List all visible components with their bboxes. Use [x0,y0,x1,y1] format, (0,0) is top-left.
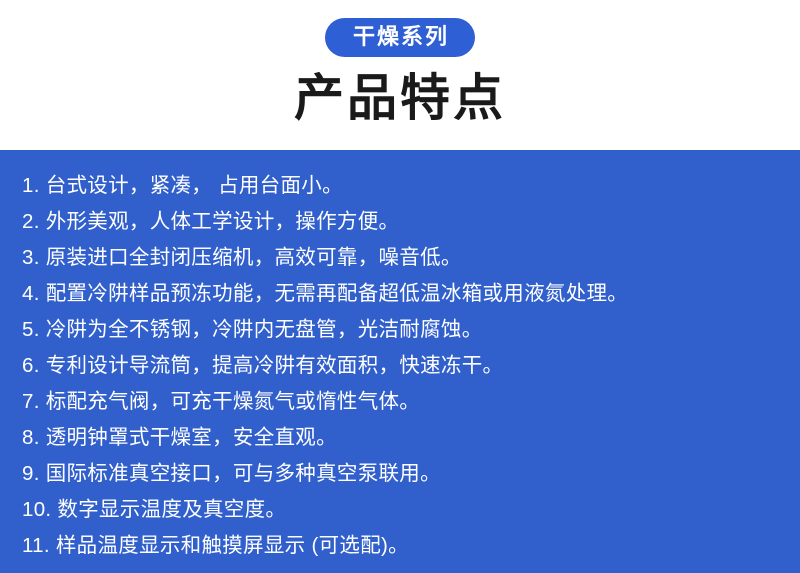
list-item: 11. 样品温度显示和触摸屏显示 (可选配)。 [18,536,782,557]
list-item: 8. 透明钟罩式干燥室，安全直观。 [18,428,782,449]
list-item: 3. 原装进口全封闭压缩机，高效可靠，噪音低。 [18,248,782,269]
list-item: 9. 国际标准真空接口，可与多种真空泵联用。 [18,464,782,485]
list-item: 7. 标配充气阀，可充干燥氮气或惰性气体。 [18,392,782,413]
list-item: 4. 配置冷阱样品预冻功能，无需再配备超低温冰箱或用液氮处理。 [18,284,782,305]
page-title: 产品特点 [294,71,506,126]
list-item: 1. 台式设计，紧凑， 占用台面小。 [18,176,782,197]
features-panel: 1. 台式设计，紧凑， 占用台面小。 2. 外形美观，人体工学设计，操作方便。 … [0,150,800,573]
page-header: 干燥系列 产品特点 [0,0,800,150]
list-item: 6. 专利设计导流筒，提高冷阱有效面积，快速冻干。 [18,356,782,377]
list-item: 10. 数字显示温度及真空度。 [18,500,782,521]
list-item: 2. 外形美观，人体工学设计，操作方便。 [18,212,782,233]
list-item: 5. 冷阱为全不锈钢，冷阱内无盘管，光洁耐腐蚀。 [18,320,782,341]
product-features-page: 干燥系列 产品特点 1. 台式设计，紧凑， 占用台面小。 2. 外形美观，人体工… [0,0,800,573]
series-badge: 干燥系列 [325,18,475,57]
